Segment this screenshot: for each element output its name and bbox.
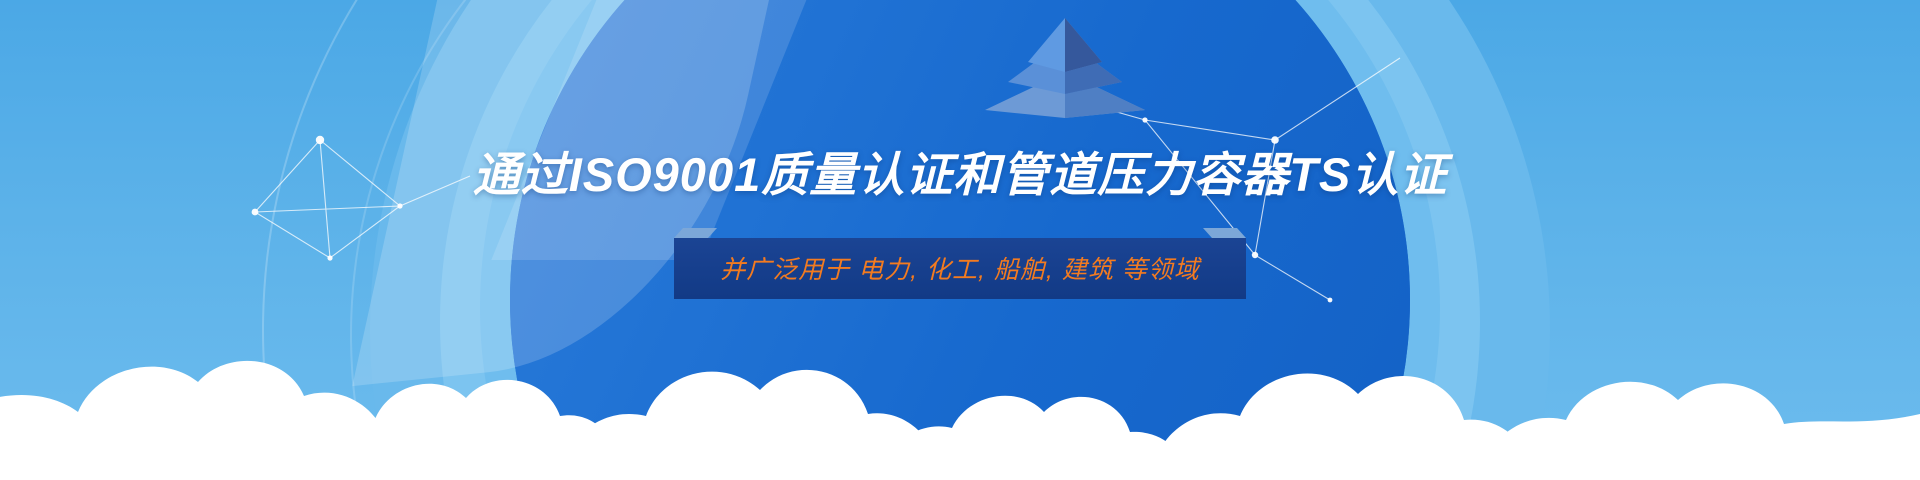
promotional-banner: 通过ISO9001质量认证和管道压力容器TS认证 并广泛用于 电力, 化工, 船… [0,0,1920,480]
pyramid-logo-icon [980,10,1150,120]
subtitle-text: 并广泛用于 电力, 化工, 船舶, 建筑 等领域 [720,256,1200,284]
cloud-shapes-icon [0,290,1920,480]
headline-container: 通过ISO9001质量认证和管道压力容器TS认证 [0,148,1920,202]
page-title: 通过ISO9001质量认证和管道压力容器TS认证 [473,148,1448,202]
